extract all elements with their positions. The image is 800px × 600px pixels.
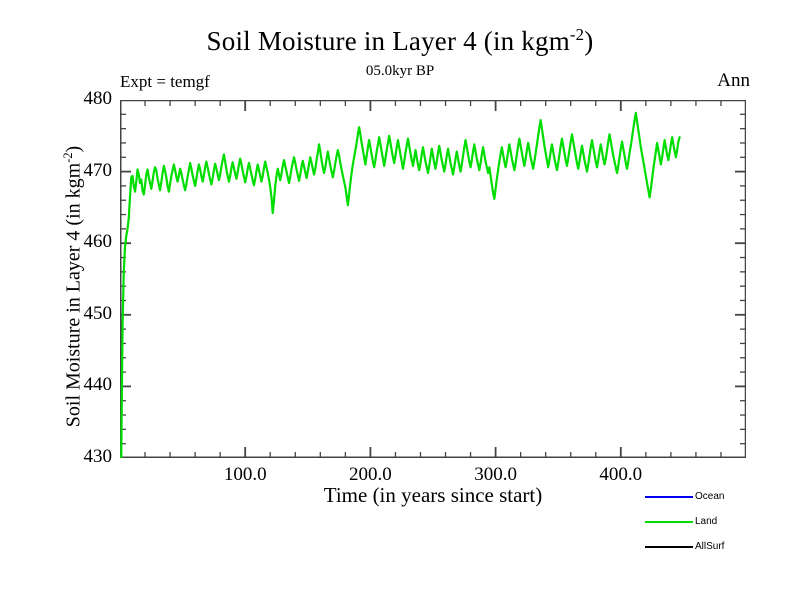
page-title-exponent: -2 xyxy=(570,25,584,44)
legend-label: Land xyxy=(695,516,717,527)
legend-item-allsurf[interactable]: AllSurf xyxy=(645,534,795,559)
legend-label: AllSurf xyxy=(695,541,724,552)
legend-swatch-land xyxy=(645,521,693,523)
y-tick-label: 450 xyxy=(84,303,113,325)
y-tick-label: 430 xyxy=(84,446,113,468)
legend-swatch-allsurf xyxy=(645,546,693,548)
y-axis-title: Soil Moisture in Layer 4 (in kgm-2) xyxy=(63,107,86,467)
period-label: Ann xyxy=(717,70,750,92)
plot-canvas xyxy=(120,100,746,458)
legend-swatch-ocean xyxy=(645,496,693,498)
page-title: Soil Moisture in Layer 4 (in kgm-2) xyxy=(0,26,800,57)
x-tick-label: 100.0 xyxy=(195,464,295,486)
page-title-main: Soil Moisture in Layer 4 (in kgm xyxy=(207,26,570,56)
x-tick-label: 400.0 xyxy=(571,464,671,486)
data-series-group xyxy=(121,113,679,458)
y-tick-label: 460 xyxy=(84,231,113,253)
page-title-tail: ) xyxy=(584,26,593,56)
y-tick-label: 440 xyxy=(84,374,113,396)
y-tick-label: 470 xyxy=(84,160,113,182)
x-tick-label: 300.0 xyxy=(446,464,546,486)
legend-item-ocean[interactable]: Ocean xyxy=(645,484,795,509)
plot-area xyxy=(120,100,746,458)
legend: OceanLandAllSurf xyxy=(645,484,795,559)
experiment-label: Expt = temgf xyxy=(120,72,210,92)
y-tick-label: 480 xyxy=(84,88,113,110)
x-tick-label: 200.0 xyxy=(320,464,420,486)
y-axis-title-exponent: -2 xyxy=(61,152,75,162)
chart-page: Soil Moisture in Layer 4 (in kgm-2) 05.0… xyxy=(0,0,800,600)
legend-label: Ocean xyxy=(695,491,724,502)
legend-item-land[interactable]: Land xyxy=(645,509,795,534)
series-line-land xyxy=(121,113,679,458)
y-axis-title-tail: ) xyxy=(63,146,85,153)
y-axis-title-main: Soil Moisture in Layer 4 (in kgm xyxy=(63,163,85,427)
